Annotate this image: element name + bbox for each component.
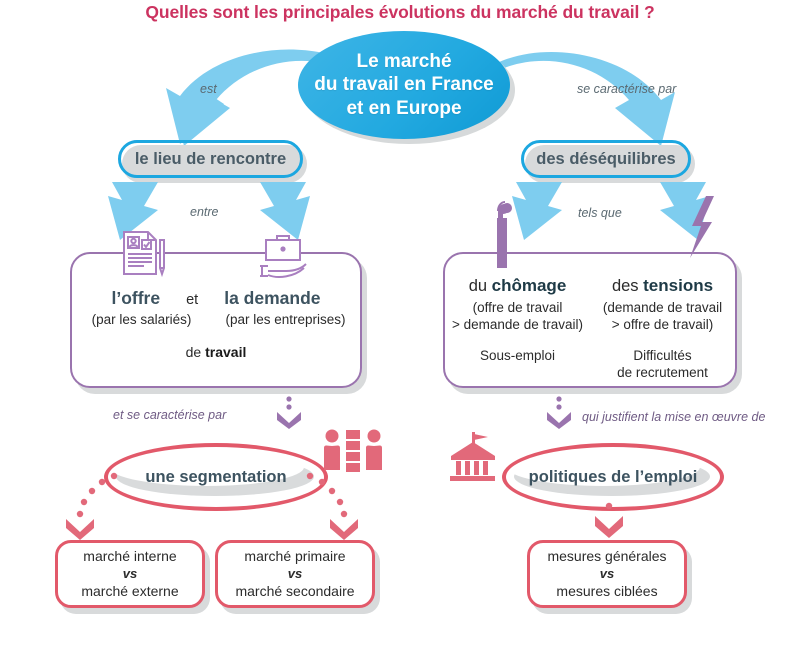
ellipse-outline: une segmentation (104, 443, 328, 511)
pill-lieu-de-rencontre[interactable]: le lieu de rencontre (118, 140, 303, 178)
chomage-head: du chômage (445, 276, 590, 296)
tensions-head-prefix: des (612, 277, 643, 295)
connector-label-qui-justifient: qui justifient la mise en œuvre de (582, 410, 765, 424)
box-vs: vs (288, 566, 302, 583)
et-label: et (186, 292, 198, 308)
ellipse-politiques-emploi[interactable]: politiques de l’emploi (502, 443, 716, 503)
tensions-line2: > offre de travail) (590, 316, 735, 333)
chomage-extra1: Sous-emploi (445, 347, 590, 364)
column-chomage: du chômage (offre de travail > demande d… (445, 276, 590, 364)
box-vs: vs (600, 566, 614, 583)
ellipse-une-segmentation[interactable]: une segmentation (104, 443, 320, 503)
box-line-1: marché interne (83, 547, 176, 565)
diagram-canvas: Quelles sont les principales évolutions … (0, 0, 800, 653)
tensions-head: des tensions (590, 276, 735, 296)
box-line-1: marché primaire (244, 547, 345, 565)
box-line-2: marché externe (81, 582, 178, 600)
offre-label: l’offre (111, 288, 160, 309)
ellipse-label: politiques de l’emploi (529, 468, 698, 487)
tensions-head-strong: tensions (643, 276, 713, 295)
box-line-2: mesures ciblées (556, 582, 657, 600)
tensions-extra1: Difficultés (590, 347, 735, 364)
pill-outline: des déséquilibres (521, 140, 691, 178)
connector-label-se-caracterise-par: se caractérise par (577, 82, 676, 96)
chomage-head-strong: chômage (492, 276, 567, 295)
cv-document-icon (118, 228, 170, 280)
arrow-pill-to-chomage (510, 182, 580, 244)
column-tensions: des tensions (demande de travail > offre… (590, 276, 735, 381)
purple-box-offre-demande: l’offre et la demande (par les salariés)… (70, 252, 362, 388)
box-line-2: marché secondaire (235, 582, 354, 600)
pill-des-desequilibres[interactable]: des déséquilibres (521, 140, 691, 178)
lightning-bolt-icon (686, 196, 718, 266)
coral-box-mesures[interactable]: mesures générales vs mesures ciblées (527, 540, 687, 608)
demande-sublabel: (par les entreprises) (211, 312, 360, 327)
briefcase-hand-icon (256, 232, 312, 282)
pill-outline: le lieu de rencontre (118, 140, 303, 178)
travail-strong: travail (205, 344, 246, 360)
tensions-extra2: de recrutement (590, 364, 735, 381)
coral-box-outline: mesures générales vs mesures ciblées (527, 540, 687, 608)
purple-box-outline: l’offre et la demande (par les salariés)… (70, 252, 362, 388)
ellipse-label: une segmentation (145, 468, 286, 487)
de-travail-line: de travail (72, 344, 360, 360)
ellipse-outline: politiques de l’emploi (502, 443, 724, 511)
offre-sublabel: (par les salariés) (72, 312, 211, 327)
chomage-line1: (offre de travail (445, 299, 590, 316)
pill-label: le lieu de rencontre (135, 150, 286, 169)
coral-box-outline: marché interne vs marché externe (55, 540, 205, 608)
arrow-segmentation-to-primaire (296, 470, 366, 545)
coral-box-marche-interne-externe[interactable]: marché interne vs marché externe (55, 540, 205, 608)
coral-box-outline: marché primaire vs marché secondaire (215, 540, 375, 608)
tensions-line1: (demande de travail (590, 299, 735, 316)
offre-demande-row: l’offre et la demande (72, 288, 360, 309)
demande-label: la demande (224, 288, 320, 309)
coral-box-marche-primaire-secondaire[interactable]: marché primaire vs marché secondaire (215, 540, 375, 608)
chomage-line2: > demande de travail) (445, 316, 590, 333)
arrow-segmentation-to-interne (58, 470, 128, 545)
purple-box-outline: du chômage (offre de travail > demande d… (443, 252, 737, 388)
de-prefix: de (186, 344, 205, 360)
chomage-head-prefix: du (469, 277, 492, 295)
center-ellipse: Le marché du travail en France et en Eur… (298, 31, 510, 139)
center-ellipse-label: Le marché du travail en France et en Eur… (314, 50, 494, 120)
box-line-1: mesures générales (547, 547, 666, 565)
purple-box-desequilibres: du chômage (offre de travail > demande d… (443, 252, 737, 388)
box-vs: vs (123, 566, 137, 583)
connector-label-et-se-caracterise-par: et se caractérise par (113, 408, 226, 422)
page-title: Quelles sont les principales évolutions … (0, 2, 800, 23)
arrow-purple-right-down (542, 396, 576, 428)
offre-demande-subrow: (par les salariés) (par les entreprises) (72, 312, 360, 327)
connector-label-est: est (200, 82, 217, 96)
connector-label-entre: entre (190, 205, 219, 219)
government-building-icon (448, 430, 504, 482)
person-icon (489, 198, 515, 268)
pill-label: des déséquilibres (536, 150, 675, 169)
connector-label-tels-que: tels que (578, 206, 622, 220)
arrow-purple-left-down (272, 396, 306, 428)
